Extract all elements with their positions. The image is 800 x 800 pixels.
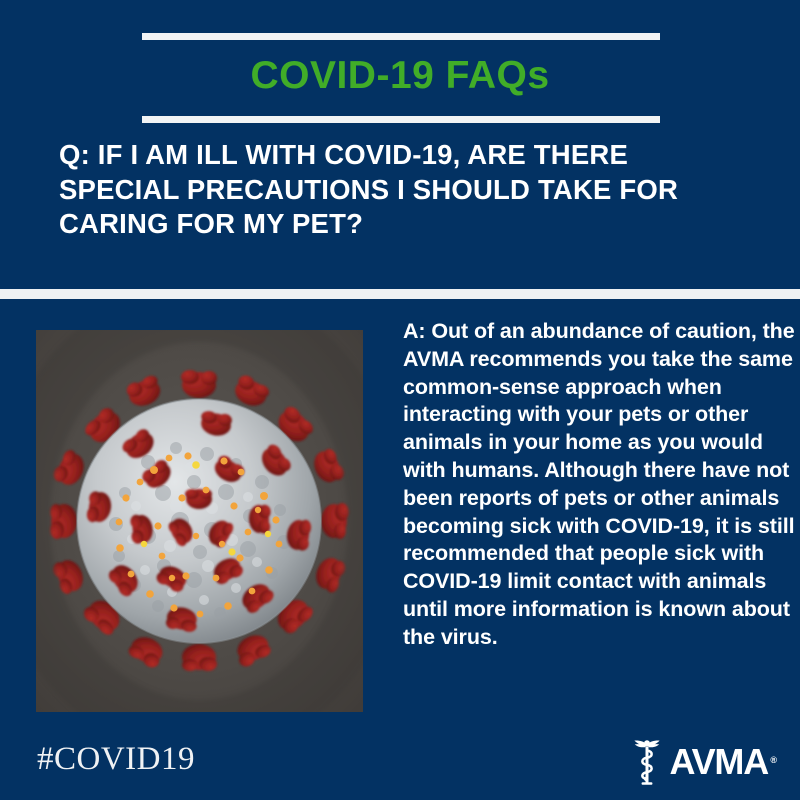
- title-rule-bottom: [142, 116, 660, 123]
- question-text: Q: IF I AM ILL WITH COVID-19, ARE THERE …: [59, 138, 749, 242]
- footer-section: #COVID19: [0, 725, 800, 800]
- avma-wordmark: AVMA®: [669, 743, 768, 781]
- hashtag-covid19: #COVID19: [37, 741, 195, 778]
- title-rule-top: [142, 33, 660, 40]
- answer-text: A: Out of an abundance of caution, the A…: [403, 318, 795, 652]
- section-divider: [0, 289, 800, 299]
- virus-illustration: [36, 330, 363, 712]
- registered-trademark-icon: ®: [770, 741, 777, 779]
- virus-illustration-svg: [36, 330, 363, 712]
- caduceus-icon: [632, 739, 662, 785]
- page-title: COVID-19 FAQs: [0, 50, 800, 102]
- covid-faq-infographic: COVID-19 FAQs Q: IF I AM ILL WITH COVID-…: [0, 0, 800, 800]
- avma-wordmark-text: AVMA: [669, 741, 768, 782]
- avma-logo[interactable]: AVMA®: [632, 739, 768, 785]
- header-section: COVID-19 FAQs Q: IF I AM ILL WITH COVID-…: [0, 0, 800, 289]
